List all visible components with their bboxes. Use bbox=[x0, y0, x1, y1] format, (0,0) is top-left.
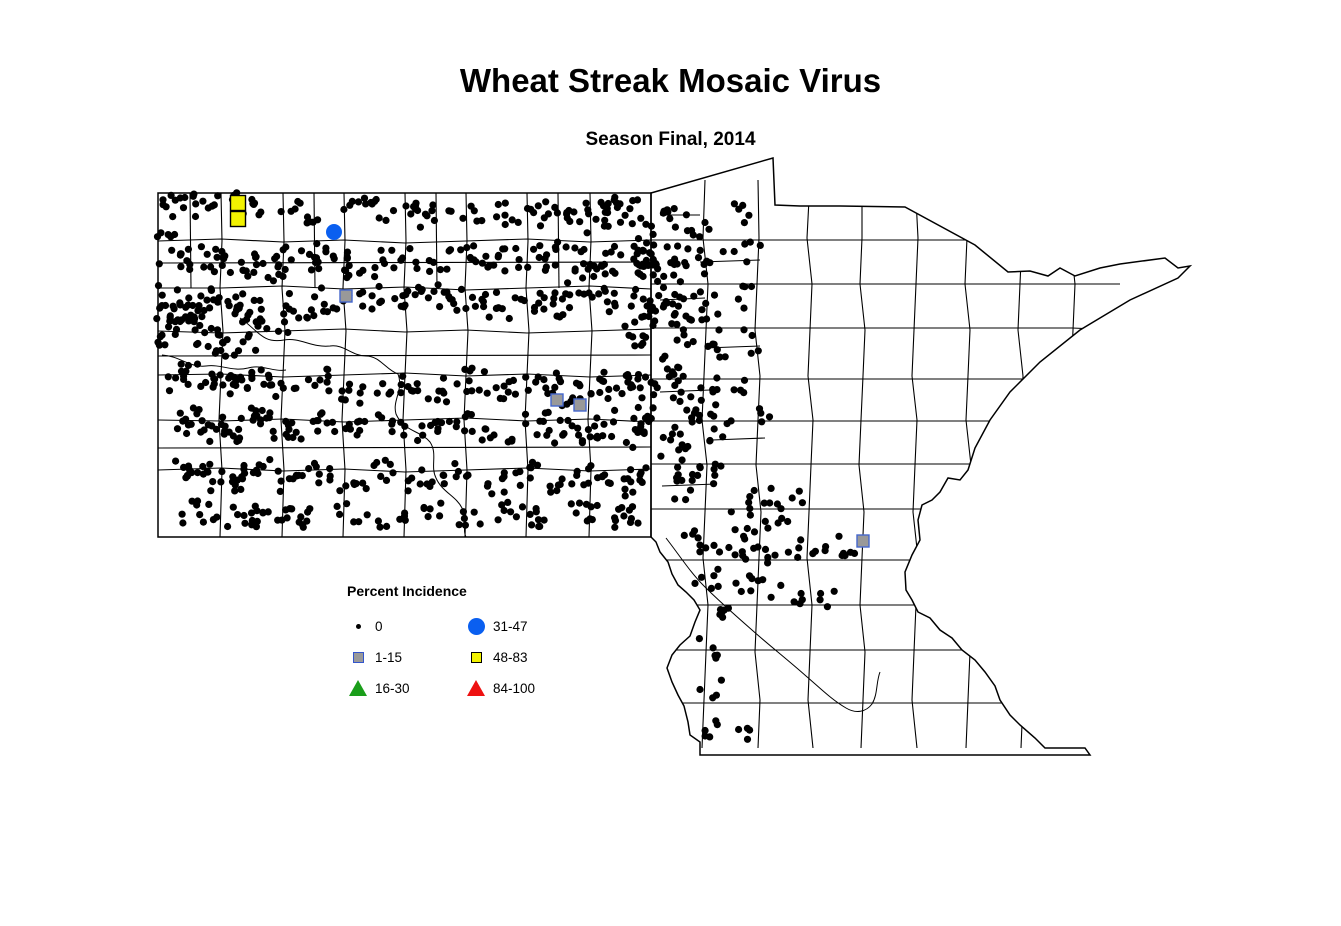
zero-incidence-point bbox=[343, 274, 350, 281]
zero-incidence-point bbox=[297, 200, 304, 207]
zero-incidence-point bbox=[537, 222, 544, 229]
zero-incidence-point bbox=[666, 373, 673, 380]
zero-incidence-point bbox=[751, 487, 758, 494]
zero-incidence-point bbox=[541, 517, 548, 524]
zero-incidence-point bbox=[155, 282, 162, 289]
zero-incidence-point bbox=[391, 295, 398, 302]
zero-incidence-point bbox=[524, 264, 531, 271]
zero-incidence-point bbox=[165, 373, 172, 380]
zero-incidence-point bbox=[378, 414, 385, 421]
zero-incidence-point bbox=[536, 418, 543, 425]
zero-incidence-point bbox=[676, 398, 683, 405]
zero-incidence-point bbox=[627, 478, 634, 485]
zero-incidence-point bbox=[484, 390, 491, 397]
map-area[interactable] bbox=[0, 0, 1341, 926]
zero-incidence-point bbox=[184, 472, 191, 479]
zero-incidence-point bbox=[542, 198, 549, 205]
zero-incidence-point bbox=[812, 548, 819, 555]
zero-incidence-point bbox=[311, 460, 318, 467]
zero-incidence-point bbox=[674, 464, 681, 471]
zero-incidence-point bbox=[680, 331, 687, 338]
zero-incidence-point bbox=[668, 320, 675, 327]
square-icon bbox=[463, 652, 489, 663]
zero-incidence-point bbox=[746, 727, 753, 734]
zero-incidence-point bbox=[178, 361, 185, 368]
zero-incidence-point bbox=[324, 379, 331, 386]
zero-incidence-point bbox=[293, 472, 300, 479]
zero-incidence-point bbox=[205, 204, 212, 211]
zero-incidence-point bbox=[169, 213, 176, 220]
zero-incidence-point bbox=[470, 242, 477, 249]
zero-incidence-point bbox=[643, 239, 650, 246]
zero-incidence-point bbox=[791, 598, 798, 605]
zero-incidence-point bbox=[725, 605, 732, 612]
zero-incidence-point bbox=[672, 310, 679, 317]
zero-incidence-point bbox=[540, 306, 547, 313]
zero-incidence-point bbox=[331, 428, 338, 435]
zero-incidence-point bbox=[642, 464, 649, 471]
zero-incidence-point bbox=[181, 194, 188, 201]
zero-incidence-point bbox=[429, 201, 436, 208]
zero-incidence-point bbox=[405, 487, 412, 494]
zero-incidence-point bbox=[288, 208, 295, 215]
zero-incidence-point bbox=[303, 314, 310, 321]
zero-incidence-point bbox=[278, 478, 285, 485]
zero-incidence-point bbox=[315, 265, 322, 272]
zero-incidence-point bbox=[468, 365, 475, 372]
zero-incidence-point bbox=[245, 333, 252, 340]
zero-incidence-point bbox=[278, 208, 285, 215]
zero-incidence-point bbox=[743, 258, 750, 265]
zero-incidence-point bbox=[434, 425, 441, 432]
zero-incidence-point bbox=[638, 314, 645, 321]
zero-incidence-point bbox=[168, 247, 175, 254]
zero-incidence-point bbox=[185, 463, 192, 470]
zero-incidence-point bbox=[794, 554, 801, 561]
zero-incidence-point bbox=[446, 418, 453, 425]
zero-incidence-point bbox=[695, 254, 702, 261]
zero-incidence-point bbox=[326, 476, 333, 483]
zero-incidence-point bbox=[173, 326, 180, 333]
zero-incidence-point bbox=[426, 268, 433, 275]
zero-incidence-point bbox=[453, 307, 460, 314]
zero-incidence-point bbox=[282, 506, 289, 513]
zero-incidence-point bbox=[158, 332, 165, 339]
incidence-point-1-15[interactable] bbox=[857, 535, 869, 547]
zero-incidence-point bbox=[389, 469, 396, 476]
incidence-point-1-15[interactable] bbox=[551, 394, 563, 406]
zero-incidence-point bbox=[440, 472, 447, 479]
small-dot-icon bbox=[345, 624, 371, 629]
zero-incidence-point bbox=[547, 483, 554, 490]
zero-incidence-point bbox=[696, 548, 703, 555]
zero-incidence-point bbox=[559, 432, 566, 439]
zero-incidence-point bbox=[744, 736, 751, 743]
zero-incidence-point bbox=[655, 292, 662, 299]
zero-incidence-point bbox=[741, 219, 748, 226]
zero-incidence-point bbox=[202, 379, 209, 386]
zero-incidence-point bbox=[563, 210, 570, 217]
zero-incidence-point bbox=[702, 727, 709, 734]
zero-incidence-point bbox=[631, 342, 638, 349]
zero-incidence-point bbox=[209, 478, 216, 485]
zero-incidence-point bbox=[205, 343, 212, 350]
zero-incidence-point bbox=[631, 319, 638, 326]
zero-incidence-point bbox=[552, 262, 559, 269]
zero-incidence-point bbox=[259, 407, 266, 414]
zero-incidence-point bbox=[785, 549, 792, 556]
zero-incidence-point bbox=[568, 500, 575, 507]
zero-incidence-point bbox=[204, 468, 211, 475]
zero-incidence-point bbox=[275, 328, 282, 335]
zero-incidence-point bbox=[611, 524, 618, 531]
zero-incidence-point bbox=[635, 371, 642, 378]
zero-incidence-point bbox=[583, 501, 590, 508]
zero-incidence-point bbox=[208, 325, 215, 332]
zero-incidence-point bbox=[222, 353, 229, 360]
incidence-point-48-83[interactable] bbox=[231, 212, 246, 227]
zero-incidence-point bbox=[240, 267, 247, 274]
zero-incidence-point bbox=[375, 517, 382, 524]
zero-incidence-point bbox=[495, 201, 502, 208]
zero-incidence-point bbox=[611, 300, 618, 307]
zero-incidence-point bbox=[417, 480, 424, 487]
zero-incidence-point bbox=[673, 478, 680, 485]
zero-incidence-point bbox=[469, 294, 476, 301]
zero-incidence-point bbox=[464, 410, 471, 417]
zero-incidence-point bbox=[756, 405, 763, 412]
zero-incidence-point bbox=[618, 390, 625, 397]
zero-incidence-point bbox=[266, 374, 273, 381]
zero-incidence-point bbox=[177, 263, 184, 270]
zero-incidence-point bbox=[174, 425, 181, 432]
zero-incidence-point bbox=[564, 279, 571, 286]
zero-incidence-point bbox=[260, 381, 267, 388]
zero-incidence-point bbox=[193, 410, 200, 417]
zero-incidence-point bbox=[232, 293, 239, 300]
zero-incidence-point bbox=[314, 216, 321, 223]
zero-incidence-point bbox=[713, 692, 720, 699]
zero-incidence-point bbox=[342, 482, 349, 489]
zero-incidence-point bbox=[266, 414, 273, 421]
zero-incidence-point bbox=[722, 353, 729, 360]
zero-incidence-point bbox=[280, 385, 287, 392]
square-icon bbox=[345, 652, 371, 663]
zero-incidence-point bbox=[623, 439, 630, 446]
zero-incidence-point bbox=[711, 472, 718, 479]
zero-incidence-point bbox=[430, 288, 437, 295]
zero-incidence-point bbox=[650, 404, 657, 411]
zero-incidence-point bbox=[235, 347, 242, 354]
zero-incidence-point bbox=[551, 439, 558, 446]
zero-incidence-point bbox=[602, 288, 609, 295]
zero-incidence-point bbox=[679, 456, 686, 463]
zero-incidence-point bbox=[600, 421, 607, 428]
zero-incidence-point bbox=[497, 395, 504, 402]
zero-incidence-point bbox=[740, 326, 747, 333]
zero-incidence-point bbox=[316, 471, 323, 478]
zero-incidence-point bbox=[219, 381, 226, 388]
zero-incidence-point bbox=[482, 426, 489, 433]
zero-incidence-point bbox=[533, 505, 540, 512]
zero-incidence-point bbox=[513, 513, 520, 520]
zero-incidence-point bbox=[697, 288, 704, 295]
zero-incidence-point bbox=[564, 417, 571, 424]
zero-incidence-point bbox=[288, 505, 295, 512]
zero-incidence-point bbox=[185, 294, 192, 301]
zero-incidence-point bbox=[286, 290, 293, 297]
zero-incidence-point bbox=[789, 494, 796, 501]
zero-incidence-point bbox=[423, 212, 430, 219]
zero-incidence-point bbox=[401, 302, 408, 309]
zero-incidence-point bbox=[397, 419, 404, 426]
zero-incidence-point bbox=[174, 286, 181, 293]
zero-incidence-point bbox=[231, 310, 238, 317]
zero-incidence-point bbox=[359, 383, 366, 390]
zero-incidence-point bbox=[532, 379, 539, 386]
zero-incidence-point bbox=[687, 487, 694, 494]
zero-incidence-point bbox=[168, 192, 175, 199]
zero-incidence-point bbox=[505, 389, 512, 396]
zero-incidence-point bbox=[399, 373, 406, 380]
zero-incidence-point bbox=[330, 304, 337, 311]
zero-incidence-point bbox=[220, 339, 227, 346]
legend-title: Percent Incidence bbox=[347, 583, 585, 599]
zero-incidence-point bbox=[437, 500, 444, 507]
zero-incidence-point bbox=[192, 200, 199, 207]
zero-incidence-point bbox=[628, 381, 635, 388]
zero-incidence-point bbox=[326, 465, 333, 472]
zero-incidence-point bbox=[637, 471, 644, 478]
zero-incidence-point bbox=[797, 536, 804, 543]
zero-incidence-point bbox=[698, 316, 705, 323]
zero-incidence-point bbox=[241, 470, 248, 477]
zero-incidence-point bbox=[350, 518, 357, 525]
zero-incidence-point bbox=[642, 374, 649, 381]
zero-incidence-point bbox=[506, 315, 513, 322]
zero-incidence-point bbox=[279, 273, 286, 280]
zero-incidence-point bbox=[593, 414, 600, 421]
zero-incidence-point bbox=[795, 544, 802, 551]
zero-incidence-point bbox=[817, 590, 824, 597]
zero-incidence-point bbox=[159, 292, 166, 299]
zero-incidence-point bbox=[640, 296, 647, 303]
zero-incidence-point bbox=[257, 420, 264, 427]
zero-incidence-point bbox=[208, 287, 215, 294]
zero-incidence-point bbox=[587, 261, 594, 268]
zero-incidence-point bbox=[666, 215, 673, 222]
zero-incidence-point bbox=[677, 431, 684, 438]
zero-incidence-point bbox=[438, 419, 445, 426]
zero-incidence-point bbox=[461, 515, 468, 522]
zero-incidence-point bbox=[542, 267, 549, 274]
zero-incidence-point bbox=[674, 337, 681, 344]
zero-incidence-point bbox=[200, 264, 207, 271]
zero-incidence-point bbox=[226, 302, 233, 309]
zero-incidence-point bbox=[649, 322, 656, 329]
zero-incidence-point bbox=[286, 475, 293, 482]
zero-incidence-point bbox=[768, 594, 775, 601]
zero-incidence-point bbox=[605, 223, 612, 230]
zero-incidence-point bbox=[265, 274, 272, 281]
zero-incidence-point bbox=[714, 566, 721, 573]
zero-incidence-point bbox=[479, 260, 486, 267]
zero-incidence-point bbox=[207, 487, 214, 494]
zero-incidence-point bbox=[305, 376, 312, 383]
zero-incidence-point bbox=[248, 373, 255, 380]
zero-incidence-point bbox=[525, 387, 532, 394]
zero-incidence-point bbox=[192, 326, 199, 333]
zero-incidence-point bbox=[534, 431, 541, 438]
zero-incidence-point bbox=[580, 260, 587, 267]
zero-incidence-point bbox=[694, 472, 701, 479]
zero-incidence-point bbox=[161, 341, 168, 348]
zero-incidence-point bbox=[751, 528, 758, 535]
zero-incidence-point bbox=[325, 387, 332, 394]
zero-incidence-point bbox=[596, 375, 603, 382]
zero-incidence-point bbox=[672, 224, 679, 231]
zero-incidence-point bbox=[650, 391, 657, 398]
zero-incidence-point bbox=[777, 505, 784, 512]
zero-incidence-point bbox=[160, 201, 167, 208]
legend-item-label: 1-15 bbox=[375, 650, 402, 665]
zero-incidence-point bbox=[572, 265, 579, 272]
zero-incidence-point bbox=[831, 588, 838, 595]
zero-incidence-point bbox=[250, 269, 257, 276]
zero-incidence-point bbox=[627, 519, 634, 526]
zero-incidence-point bbox=[447, 246, 454, 253]
zero-incidence-point bbox=[590, 273, 597, 280]
zero-incidence-point bbox=[674, 364, 681, 371]
zero-incidence-point bbox=[611, 407, 618, 414]
incidence-point-48-83[interactable] bbox=[231, 196, 246, 211]
zero-incidence-point bbox=[177, 250, 184, 257]
zero-incidence-point bbox=[622, 492, 629, 499]
zero-incidence-point bbox=[283, 431, 290, 438]
zero-incidence-point bbox=[235, 426, 242, 433]
map-svg[interactable] bbox=[0, 0, 1341, 926]
zero-incidence-point bbox=[304, 219, 311, 226]
zero-incidence-point bbox=[671, 205, 678, 212]
zero-incidence-point bbox=[715, 326, 722, 333]
zero-incidence-point bbox=[574, 425, 581, 432]
zero-incidence-point bbox=[344, 249, 351, 256]
zero-incidence-point bbox=[671, 424, 678, 431]
zero-incidence-point bbox=[621, 486, 628, 493]
zero-incidence-point bbox=[637, 384, 644, 391]
zero-incidence-point bbox=[522, 420, 529, 427]
legend-item-84-100: 84-100 bbox=[463, 677, 535, 699]
zero-incidence-point bbox=[741, 377, 748, 384]
incidence-point-1-15[interactable] bbox=[340, 290, 352, 302]
zero-incidence-point bbox=[657, 453, 664, 460]
zero-incidence-point bbox=[213, 514, 220, 521]
zero-incidence-point bbox=[214, 326, 221, 333]
zero-incidence-point bbox=[185, 246, 192, 253]
zero-incidence-point bbox=[594, 502, 601, 509]
zero-incidence-point bbox=[345, 387, 352, 394]
zero-incidence-point bbox=[732, 551, 739, 558]
zero-incidence-point bbox=[258, 366, 265, 373]
zero-incidence-point bbox=[744, 525, 751, 532]
zero-incidence-point bbox=[551, 289, 558, 296]
zero-incidence-point bbox=[530, 246, 537, 253]
zero-incidence-point bbox=[153, 315, 160, 322]
zero-incidence-point bbox=[755, 347, 762, 354]
zero-incidence-point bbox=[635, 235, 642, 242]
zero-incidence-point bbox=[648, 303, 655, 310]
zero-incidence-point bbox=[566, 218, 573, 225]
zero-incidence-point bbox=[542, 384, 549, 391]
zero-incidence-point bbox=[710, 542, 717, 549]
zero-incidence-point bbox=[213, 347, 220, 354]
zero-incidence-point bbox=[522, 411, 529, 418]
zero-incidence-point bbox=[233, 438, 240, 445]
zero-incidence-point bbox=[390, 264, 397, 271]
zero-incidence-point bbox=[193, 341, 200, 348]
zero-incidence-point bbox=[419, 432, 426, 439]
zero-incidence-point bbox=[578, 248, 585, 255]
zero-incidence-point bbox=[222, 423, 229, 430]
zero-incidence-point bbox=[625, 374, 632, 381]
zero-incidence-point bbox=[471, 509, 478, 516]
zero-incidence-point bbox=[435, 388, 442, 395]
zero-incidence-point bbox=[688, 227, 695, 234]
figure-root: Wheat Streak Mosaic Virus Season Final, … bbox=[0, 0, 1341, 926]
zero-incidence-point bbox=[206, 438, 213, 445]
zero-incidence-point bbox=[488, 490, 495, 497]
zero-incidence-point bbox=[563, 243, 570, 250]
zero-incidence-point bbox=[536, 242, 543, 249]
zero-incidence-point bbox=[388, 247, 395, 254]
zero-incidence-point bbox=[288, 256, 295, 263]
zero-incidence-point bbox=[835, 533, 842, 540]
zero-incidence-point bbox=[817, 596, 824, 603]
zero-incidence-point bbox=[399, 254, 406, 261]
zero-incidence-point bbox=[642, 415, 649, 422]
zero-incidence-point bbox=[738, 588, 745, 595]
zero-incidence-point bbox=[389, 418, 396, 425]
zero-incidence-point bbox=[553, 487, 560, 494]
incidence-point-1-15[interactable] bbox=[574, 399, 586, 411]
zero-incidence-point bbox=[775, 519, 782, 526]
zero-incidence-point bbox=[777, 582, 784, 589]
legend-item-label: 0 bbox=[375, 619, 383, 634]
zero-incidence-point bbox=[286, 306, 293, 313]
zero-incidence-point bbox=[495, 252, 502, 259]
zero-incidence-point bbox=[629, 503, 636, 510]
zero-incidence-point bbox=[584, 229, 591, 236]
zero-incidence-point bbox=[339, 387, 346, 394]
zero-incidence-point bbox=[455, 468, 462, 475]
zero-incidence-point bbox=[841, 552, 848, 559]
zero-incidence-point bbox=[604, 209, 611, 216]
zero-incidence-point bbox=[476, 387, 483, 394]
zero-incidence-point bbox=[221, 252, 228, 259]
zero-incidence-point bbox=[735, 296, 742, 303]
zero-incidence-point bbox=[478, 296, 485, 303]
zero-incidence-point bbox=[573, 472, 580, 479]
zero-incidence-point bbox=[499, 475, 506, 482]
zero-incidence-point bbox=[799, 596, 806, 603]
zero-incidence-point bbox=[610, 418, 617, 425]
incidence-point-31-47[interactable] bbox=[326, 224, 342, 240]
zero-incidence-point bbox=[660, 273, 667, 280]
zero-incidence-point bbox=[171, 231, 178, 238]
zero-incidence-point bbox=[635, 428, 642, 435]
zero-incidence-point bbox=[682, 444, 689, 451]
zero-incidence-point bbox=[259, 509, 266, 516]
